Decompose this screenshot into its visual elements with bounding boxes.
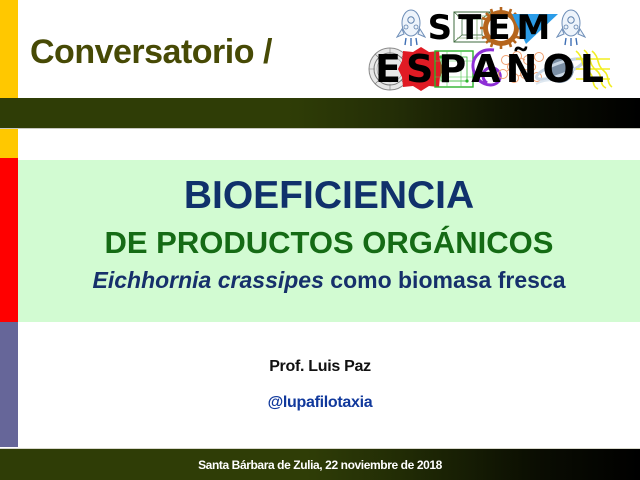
logo-letter-enye: Ñ	[505, 50, 542, 88]
logo-line-espanol: E S P	[345, 46, 637, 92]
title-subtitle: DE PRODUCTOS ORGÁNICOS	[18, 225, 640, 261]
title-main: BIOEFICIENCIA	[18, 174, 640, 218]
presenter-handle[interactable]: @lupafilotaxia	[0, 394, 640, 412]
logo-letter-e2: E	[374, 50, 405, 88]
logo-letter-s2: S	[405, 50, 437, 88]
accent-bar-red	[0, 158, 18, 322]
header-title: Conversatorio /	[30, 25, 350, 80]
header-divider-band	[0, 98, 640, 129]
logo-letter-m: M	[516, 11, 556, 45]
logo-letter-t: T	[457, 11, 486, 45]
accent-bar-purple	[0, 322, 18, 447]
logo-letter-p: P	[437, 50, 470, 88]
logo-letter-l: L	[579, 50, 608, 88]
logo-line-stem: S S T	[345, 6, 637, 50]
rocket-right-icon: S	[555, 11, 587, 45]
species-name: Eichhornia crassipes	[93, 267, 324, 293]
title-panel: BIOEFICIENCIA DE PRODUCTOS ORGÁNICOS Eic…	[18, 160, 640, 322]
logo-letter-a: A	[470, 50, 504, 88]
accent-bar-yellow-top	[0, 0, 18, 98]
presentation-slide: Conversatorio / S S	[0, 0, 640, 480]
rocket-left-icon: S	[395, 11, 427, 45]
footer-text: Santa Bárbara de Zulia, 22 noviembre de …	[0, 449, 640, 480]
stem-espanol-logo: S S T	[345, 2, 637, 94]
logo-letter-e: E	[486, 11, 515, 45]
logo-letter-s: S	[427, 11, 458, 45]
accent-bar-yellow-middle	[0, 128, 18, 158]
presenter-name: Prof. Luis Paz	[0, 358, 640, 376]
title-species-line: Eichhornia crassipes como biomasa fresca	[18, 267, 640, 294]
logo-letter-o: O	[541, 50, 578, 88]
footer-band: Santa Bárbara de Zulia, 22 noviembre de …	[0, 448, 640, 480]
species-suffix: como biomasa fresca	[324, 267, 566, 293]
